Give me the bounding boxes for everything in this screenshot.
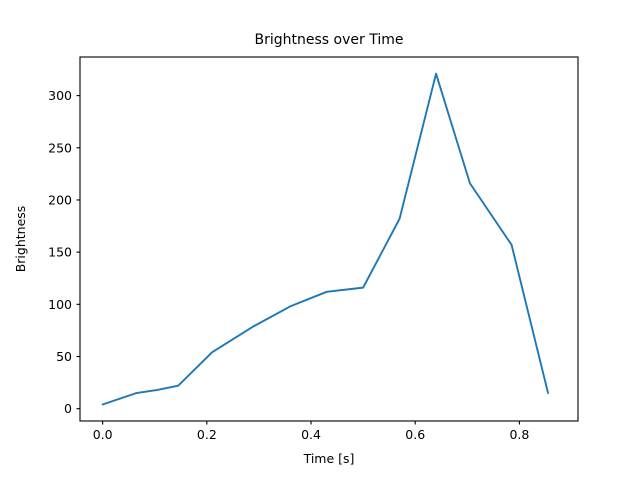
y-tick-label: 100 — [48, 297, 72, 312]
chart-title: Brightness over Time — [255, 32, 404, 48]
x-tick-label: 0.0 — [93, 427, 113, 442]
x-tick-label: 0.4 — [301, 427, 321, 442]
x-tick-label: 0.8 — [509, 427, 529, 442]
y-tick-label: 0 — [64, 401, 72, 416]
plot-area-background — [80, 57, 578, 421]
y-tick-label: 150 — [48, 245, 72, 260]
y-tick-label: 300 — [48, 88, 72, 103]
x-tick-label: 0.2 — [197, 427, 217, 442]
y-axis-label: Brightness — [13, 206, 28, 273]
figure-canvas: 0.00.20.40.60.8 050100150200250300 Brigh… — [0, 0, 640, 480]
y-tick-label: 200 — [48, 192, 72, 207]
x-tick-label: 0.6 — [405, 427, 425, 442]
x-axis-label: Time [s] — [303, 451, 355, 466]
y-tick-label: 250 — [48, 140, 72, 155]
line-chart: 0.00.20.40.60.8 050100150200250300 Brigh… — [0, 0, 640, 480]
y-tick-label: 50 — [56, 349, 72, 364]
